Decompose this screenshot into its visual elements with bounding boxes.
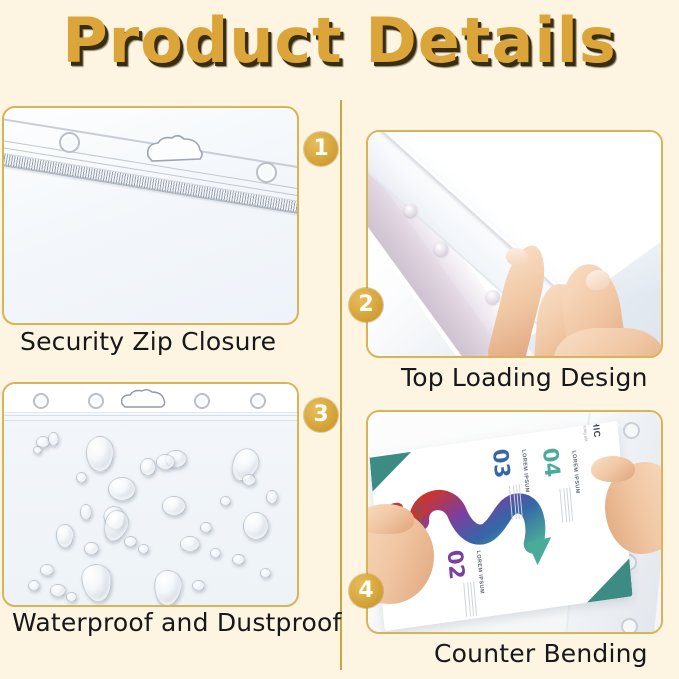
holder-seam-line [4, 415, 297, 416]
panel-4-caption: Counter Bending [434, 639, 648, 668]
sleeve-dot [434, 242, 448, 256]
panel-security-zip-closure [2, 106, 299, 325]
punch-hole [623, 422, 640, 439]
sleeve-dot [404, 204, 417, 217]
water-droplet [180, 536, 200, 552]
grommet-hole [250, 393, 266, 409]
water-droplet [200, 522, 212, 533]
step-badge-1: 1 [304, 132, 338, 166]
holder-seam-line [4, 420, 297, 421]
water-droplet [138, 544, 149, 554]
step-badge-2: 2 [349, 288, 383, 322]
water-droplet [152, 569, 184, 607]
vertical-divider [340, 100, 342, 670]
water-droplet [84, 542, 99, 555]
product-details-infographic: Product Details 1 Security Zip Closure [0, 0, 679, 679]
panel-1-caption: Security Zip Closure [20, 327, 276, 356]
water-droplet [162, 496, 186, 516]
left-thumb [366, 504, 414, 534]
sleeve-dot [486, 290, 500, 304]
water-droplet [232, 554, 245, 565]
water-droplet [242, 474, 256, 486]
grommet-hole [256, 162, 277, 183]
water-droplet [76, 472, 87, 483]
panel-3-caption: Waterproof and Dustproof [12, 608, 342, 637]
water-droplet [40, 564, 54, 576]
water-droplet [266, 490, 278, 504]
infographic-step-number: 04 [538, 446, 564, 478]
water-droplet [260, 568, 271, 578]
corner-triangle-icon [584, 558, 633, 602]
water-droplet [80, 562, 115, 604]
water-droplet [210, 548, 221, 558]
water-droplet [28, 580, 40, 591]
panel-top-loading-design [366, 130, 663, 358]
water-droplet [56, 524, 74, 548]
water-droplet [66, 592, 77, 602]
slot-cutout-icon [144, 134, 208, 164]
water-droplet [124, 536, 137, 547]
water-droplet [243, 512, 269, 540]
panel-counter-bending: INFOGRAPHIC ELEMENTS Lorem ipsum dolor s… [366, 410, 663, 634]
water-droplet [192, 580, 205, 591]
water-droplet [33, 446, 42, 454]
infographic-step-number: 02 [443, 548, 469, 580]
water-droplet [140, 458, 156, 476]
water-droplet [108, 477, 136, 501]
right-fingertip [591, 456, 635, 482]
slot-cutout-icon [119, 389, 167, 410]
water-droplet [220, 496, 231, 506]
grommet-hole [33, 393, 49, 409]
punch-hole [621, 618, 638, 634]
panel-2-caption: Top Loading Design [401, 363, 648, 392]
grommet-hole [194, 393, 210, 409]
step-badge-4: 4 [349, 574, 383, 608]
infographic-step-number: 03 [488, 447, 514, 479]
panel-waterproof-dustproof [2, 382, 299, 607]
water-droplet [156, 454, 175, 470]
page-title: Product Details [0, 8, 679, 73]
water-droplet [80, 504, 92, 520]
grommet-hole [88, 393, 104, 409]
water-droplet [86, 436, 114, 472]
water-droplet [50, 584, 66, 597]
grommet-hole [59, 132, 80, 153]
step-badge-3: 3 [304, 398, 338, 432]
water-droplet [48, 432, 59, 446]
